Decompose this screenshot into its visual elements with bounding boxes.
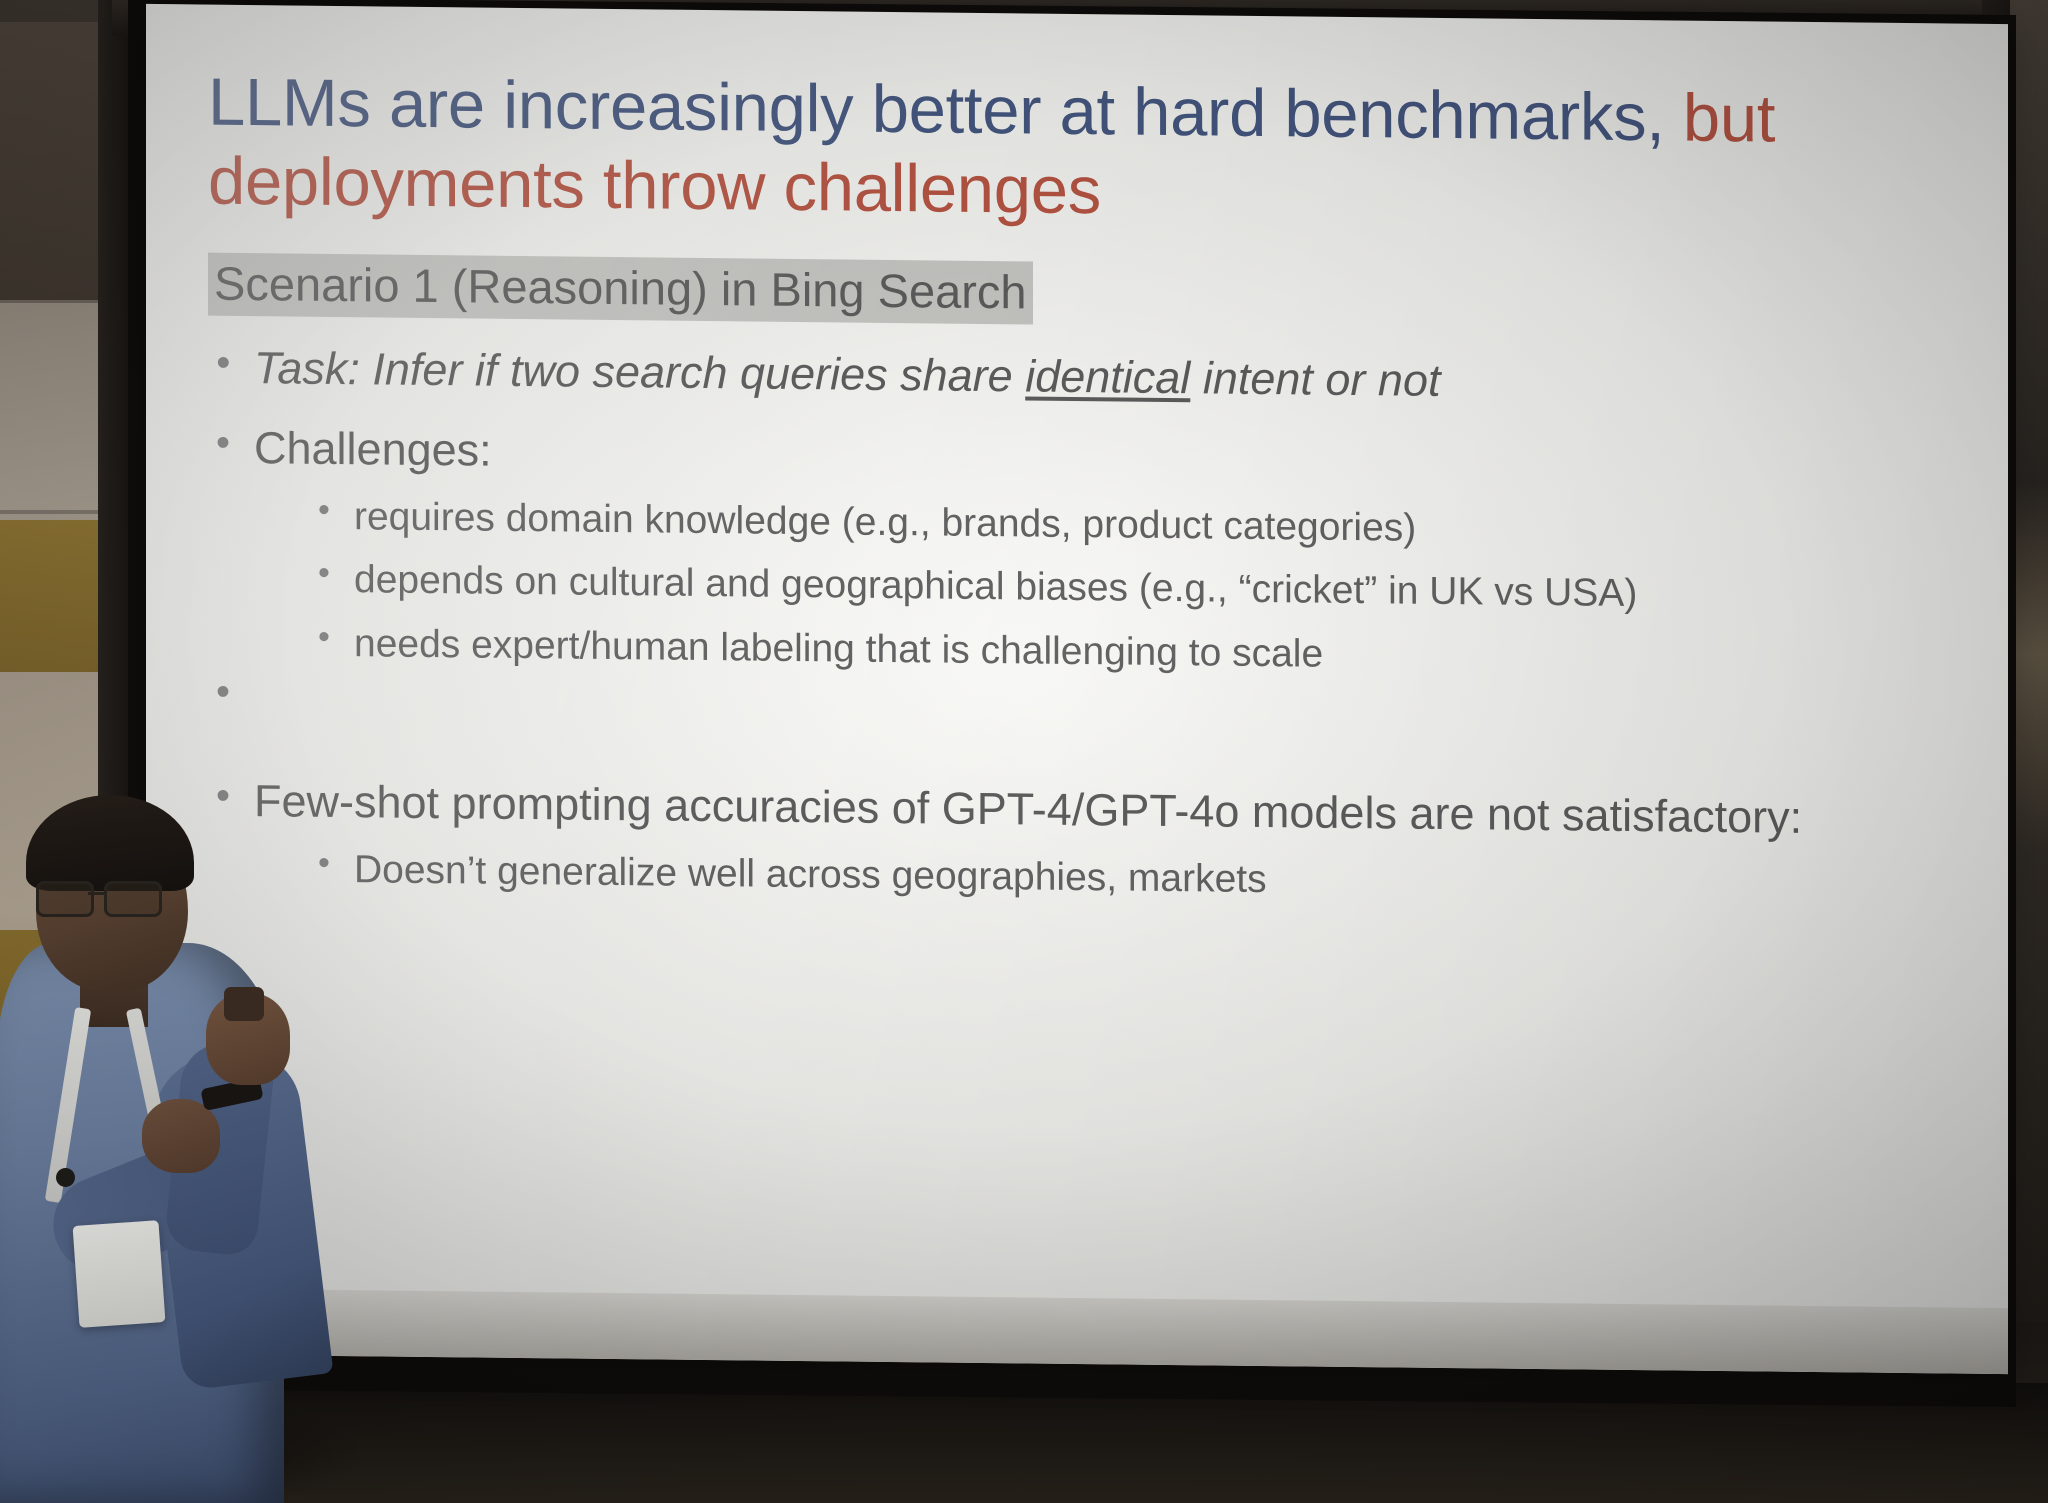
bullet-task-prefix: Task: Infer if two search queries share	[254, 342, 1025, 401]
bullet-few-shot-text: Few-shot prompting accuracies of GPT-4/G…	[254, 775, 1790, 843]
bullet-challenges-label: Challenges:	[254, 422, 492, 476]
slide-bullet-list: Task: Infer if two search queries share …	[208, 338, 1928, 912]
lecture-room-photo: LLMs are increasingly better at hard ben…	[0, 0, 2048, 1503]
left-wall-wood-trim	[0, 520, 113, 680]
few-shot-sublist: Doesn’t generalize well across geographi…	[254, 843, 1928, 913]
section-heading: Scenario 1 (Reasoning) in Bing Search	[208, 253, 1033, 325]
left-wall-whiteboard	[0, 22, 100, 320]
bullet-list-spacer	[208, 668, 1928, 769]
slide-title-line1-blue: LLMs are increasingly better at hard ben…	[208, 65, 1665, 156]
bullet-task: Task: Infer if two search queries share …	[208, 338, 1928, 415]
sub-bullet-generalization: Doesn’t generalize well across geographi…	[312, 844, 1928, 913]
section-heading-wrap: Scenario 1 (Reasoning) in Bing Search	[208, 251, 1928, 335]
presentation-slide: LLMs are increasingly better at hard ben…	[146, 4, 2008, 1374]
bullet-few-shot-colon: :	[1790, 792, 1803, 843]
sub-bullet-cultural-bias: depends on cultural and geographical bia…	[312, 554, 1928, 623]
bullet-task-suffix: intent or not	[1190, 352, 1440, 406]
slide-title: LLMs are increasingly better at hard ben…	[208, 63, 1928, 240]
slide-title-line2-red: deployments throw challenges	[208, 144, 1101, 229]
slide-title-line1-red: but	[1665, 80, 1776, 156]
bullet-few-shot-accuracy: Few-shot prompting accuracies of GPT-4/G…	[208, 772, 1928, 913]
sub-bullet-domain-knowledge: requires domain knowledge (e.g., brands,…	[312, 491, 1928, 560]
bullet-challenges: Challenges: requires domain knowledge (e…	[208, 419, 1928, 687]
wall-seam-line	[0, 510, 113, 514]
challenges-sublist: requires domain knowledge (e.g., brands,…	[254, 490, 1928, 687]
bullet-task-underlined: identical	[1025, 350, 1190, 403]
projection-screen: LLMs are increasingly better at hard ben…	[146, 4, 2008, 1374]
